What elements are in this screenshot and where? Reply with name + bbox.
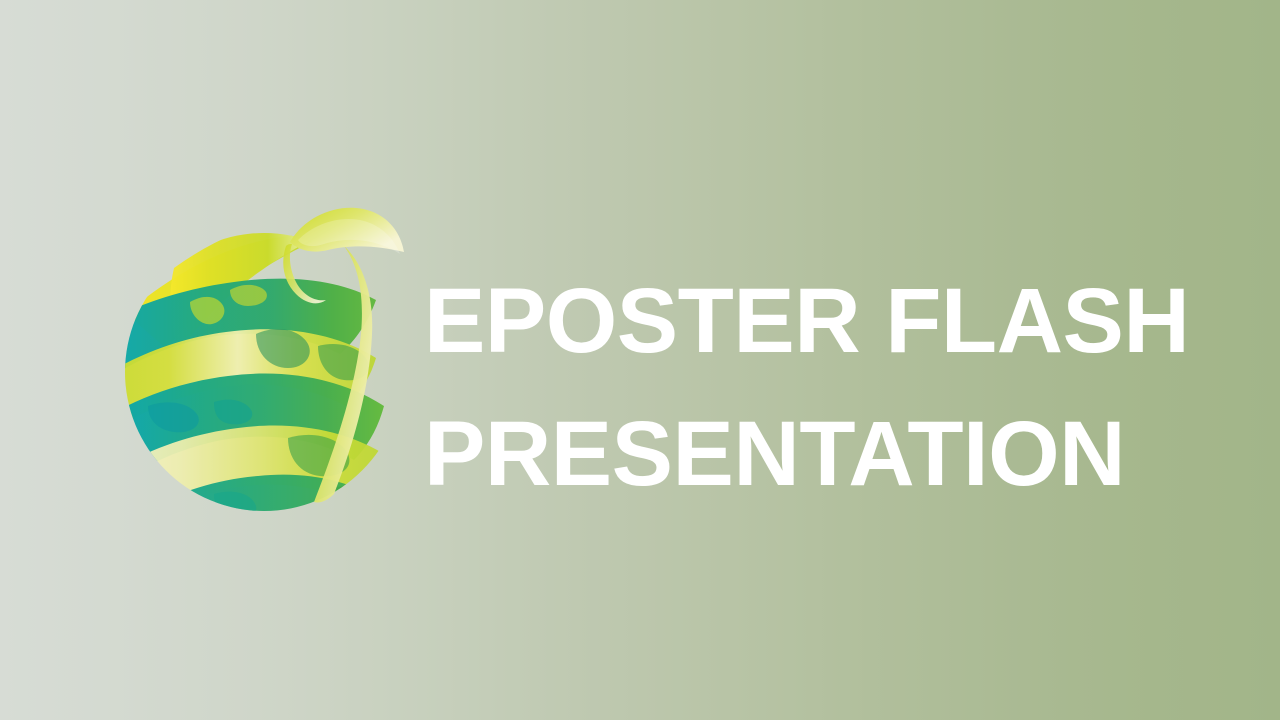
title-block: EPOSTER FLASH PRESENTATION bbox=[424, 255, 1204, 521]
spiral-ribbon-globe-logo bbox=[118, 206, 410, 512]
title-slide: EPOSTER FLASH PRESENTATION bbox=[0, 0, 1280, 720]
title-line-1: EPOSTER FLASH bbox=[424, 255, 1204, 388]
title-line-2: PRESENTATION bbox=[424, 388, 1204, 521]
